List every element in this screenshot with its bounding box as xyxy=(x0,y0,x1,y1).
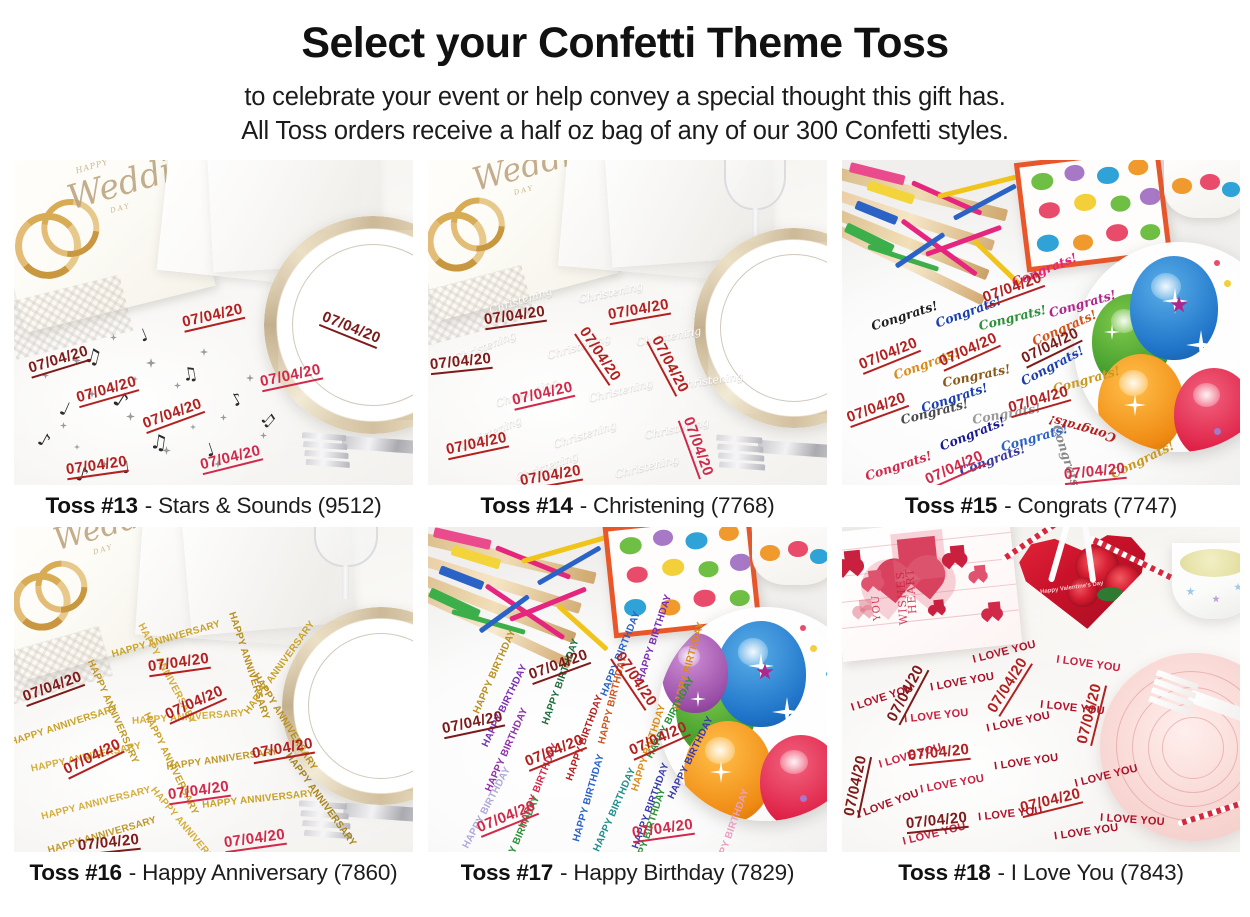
product-caption-toss-16: Toss #16 - Happy Anniversary (7860) xyxy=(14,852,413,894)
wine-glass-stem xyxy=(342,565,349,599)
product-photo-toss-16[interactable]: HAPPY Wedding DAY xyxy=(14,527,413,852)
product-photo-toss-15[interactable]: Congrats! Congrats! Congrats! Congrats! … xyxy=(842,160,1240,485)
party-cup xyxy=(752,527,827,585)
subtitle-line-2: All Toss orders receive a half oz bag of… xyxy=(0,115,1250,149)
teacup xyxy=(1172,543,1240,619)
product-number: Toss #14 xyxy=(480,493,572,519)
page-title: Select your Confetti Theme Toss xyxy=(0,18,1250,69)
music-note-confetti: ♫ xyxy=(149,431,170,453)
product-photo-toss-13[interactable]: HAPPY Wedding DAY xyxy=(14,160,413,485)
product-number: Toss #13 xyxy=(45,493,137,519)
product-number: Toss #16 xyxy=(30,860,122,886)
product-cell-toss-18[interactable]: HEART WISHES YOU Happy Valentine's Day xyxy=(842,527,1240,894)
product-caption-toss-18: Toss #18 - I Love You (7843) xyxy=(842,852,1240,894)
valentine-card-line3: YOU xyxy=(871,594,884,621)
valentine-card: HEART WISHES YOU xyxy=(842,527,1022,662)
product-name-sku: - Congrats (7747) xyxy=(1004,493,1177,519)
subtitle-line-1: to celebrate your event or help convey a… xyxy=(0,81,1250,115)
product-cell-toss-16[interactable]: HAPPY Wedding DAY xyxy=(14,527,413,894)
product-number: Toss #15 xyxy=(905,493,997,519)
product-caption-toss-15: Toss #15 - Congrats (7747) xyxy=(842,485,1240,527)
product-cell-toss-14[interactable]: HAPPY Wedding DAY xyxy=(428,160,827,527)
music-note-confetti: ♫ xyxy=(181,365,200,386)
party-cup xyxy=(1164,160,1240,218)
product-cell-toss-13[interactable]: HAPPY Wedding DAY xyxy=(14,160,413,527)
product-cell-toss-17[interactable]: HAPPY BIRTHDAY HAPPY BIRTHDAY HAPPY BIRT… xyxy=(428,527,827,894)
product-cell-toss-15[interactable]: Congrats! Congrats! Congrats! Congrats! … xyxy=(842,160,1240,527)
page-header: Select your Confetti Theme Toss to celeb… xyxy=(0,0,1250,149)
product-caption-toss-14: Toss #14 - Christening (7768) xyxy=(428,485,827,527)
product-name-sku: - Happy Birthday (7829) xyxy=(560,860,794,886)
confetti-toss-catalog-page: Select your Confetti Theme Toss to celeb… xyxy=(0,0,1250,917)
product-name-sku: - Christening (7768) xyxy=(580,493,775,519)
product-caption-toss-13: Toss #13 - Stars & Sounds (9512) xyxy=(14,485,413,527)
product-number: Toss #18 xyxy=(898,860,990,886)
product-name-sku: - Stars & Sounds (9512) xyxy=(145,493,382,519)
product-grid: HAPPY Wedding DAY xyxy=(14,160,1240,894)
product-photo-toss-17[interactable]: HAPPY BIRTHDAY HAPPY BIRTHDAY HAPPY BIRT… xyxy=(428,527,827,852)
product-photo-toss-14[interactable]: HAPPY Wedding DAY xyxy=(428,160,827,485)
silver-fork xyxy=(709,411,827,485)
product-caption-toss-17: Toss #17 - Happy Birthday (7829) xyxy=(428,852,827,894)
product-number: Toss #17 xyxy=(461,860,553,886)
product-name-sku: - I Love You (7843) xyxy=(997,860,1183,886)
product-name-sku: - Happy Anniversary (7860) xyxy=(129,860,398,886)
page-subtitle: to celebrate your event or help convey a… xyxy=(0,81,1250,149)
product-photo-toss-18[interactable]: HEART WISHES YOU Happy Valentine's Day xyxy=(842,527,1240,852)
